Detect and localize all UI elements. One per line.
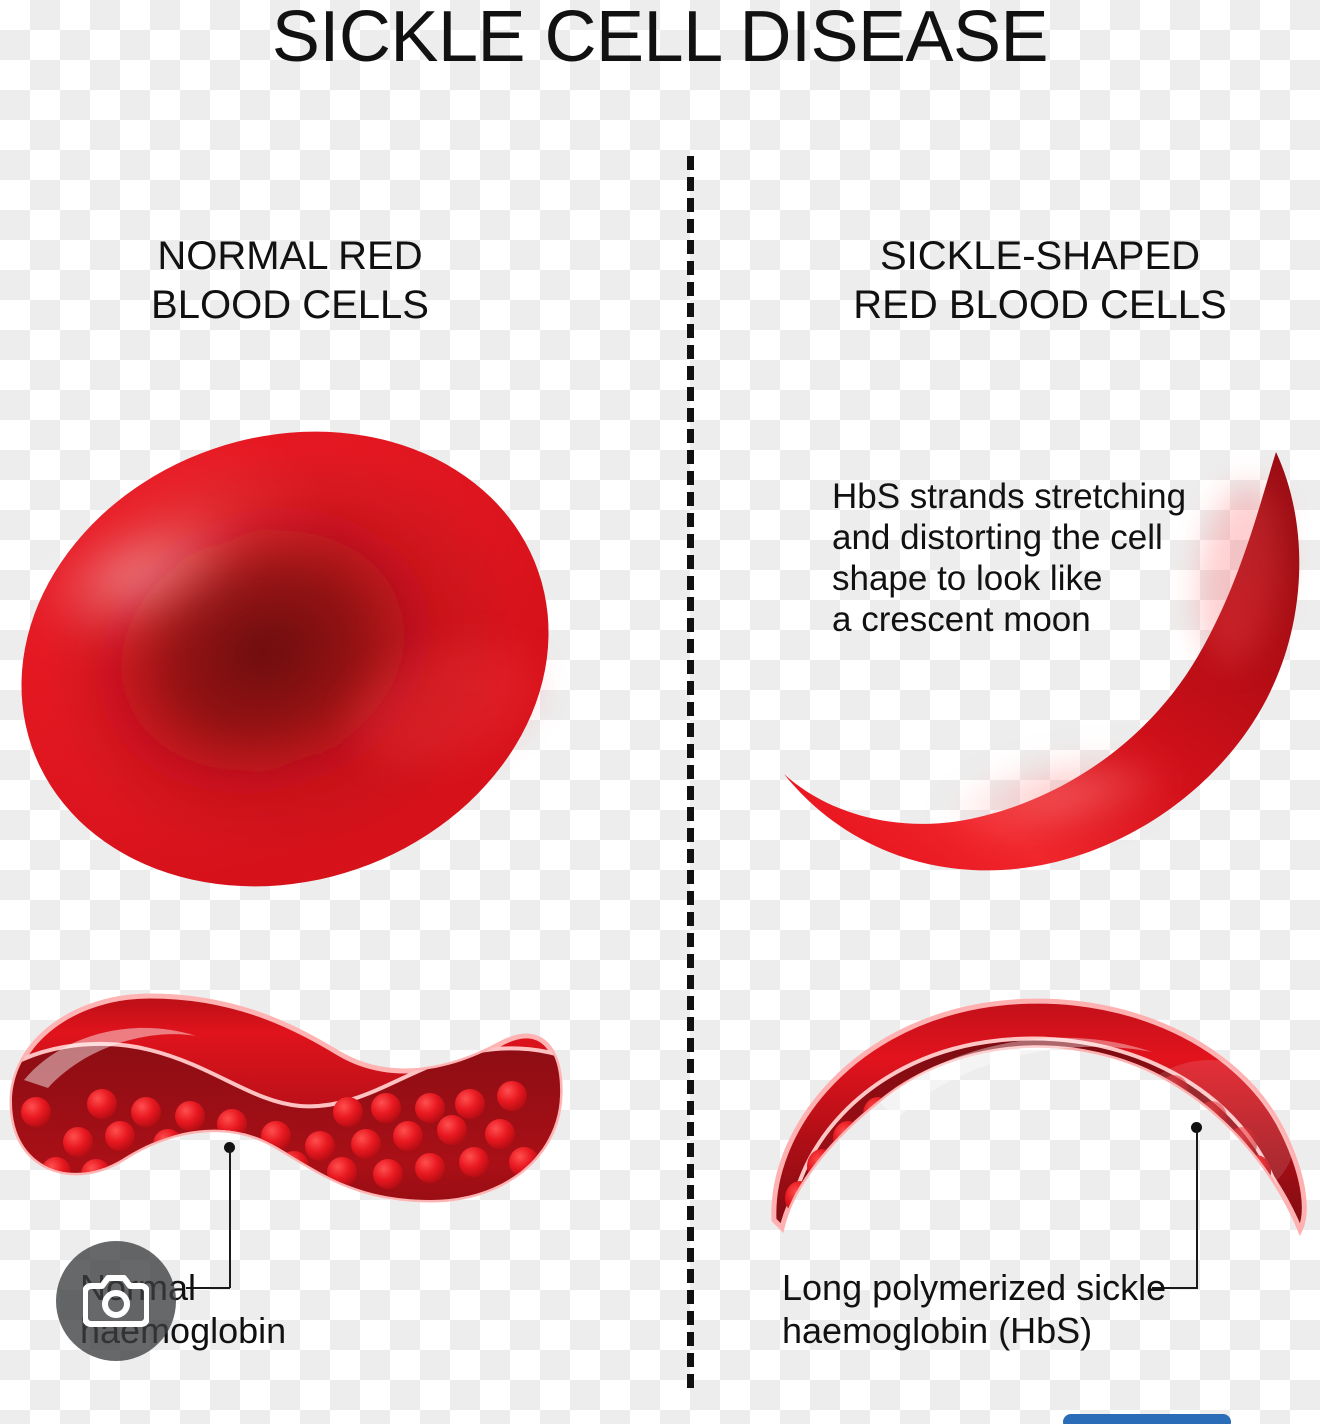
- normal-red-blood-cell-illustration: [0, 424, 570, 894]
- note-line-4: a crescent moon: [832, 599, 1202, 640]
- bottom-blue-bar[interactable]: [1063, 1414, 1231, 1424]
- sickle-cell-cross-section: [760, 984, 1320, 1244]
- heading-line-1: SICKLE-SHAPED: [790, 232, 1290, 281]
- diagram-canvas: SICKLE CELL DISEASE NORMAL RED BLOOD CEL…: [0, 0, 1320, 1424]
- caption-line-1: Long polymerized sickle: [782, 1266, 1212, 1309]
- page-title: SICKLE CELL DISEASE: [0, 0, 1320, 78]
- note-line-1: HbS strands stretching: [832, 476, 1202, 517]
- column-divider: [687, 156, 694, 1388]
- heading-line-2: RED BLOOD CELLS: [790, 281, 1290, 330]
- camera-watermark-badge: [56, 1241, 176, 1361]
- sickle-haemoglobin-caption: Long polymerized sickle haemoglobin (HbS…: [782, 1266, 1212, 1352]
- caption-line-2: haemoglobin (HbS): [782, 1309, 1212, 1352]
- column-heading-sickle: SICKLE-SHAPED RED BLOOD CELLS: [790, 232, 1290, 330]
- heading-line-1: NORMAL RED: [30, 232, 550, 281]
- leader-vertical: [1196, 1130, 1198, 1288]
- heading-line-2: BLOOD CELLS: [30, 281, 550, 330]
- sickle-shape-note: HbS strands stretching and distorting th…: [832, 476, 1202, 640]
- camera-icon: [83, 1272, 149, 1330]
- note-line-3: shape to look like: [832, 558, 1202, 599]
- normal-cell-cross-section: [0, 984, 570, 1244]
- note-line-2: and distorting the cell: [832, 517, 1202, 558]
- column-heading-normal: NORMAL RED BLOOD CELLS: [30, 232, 550, 330]
